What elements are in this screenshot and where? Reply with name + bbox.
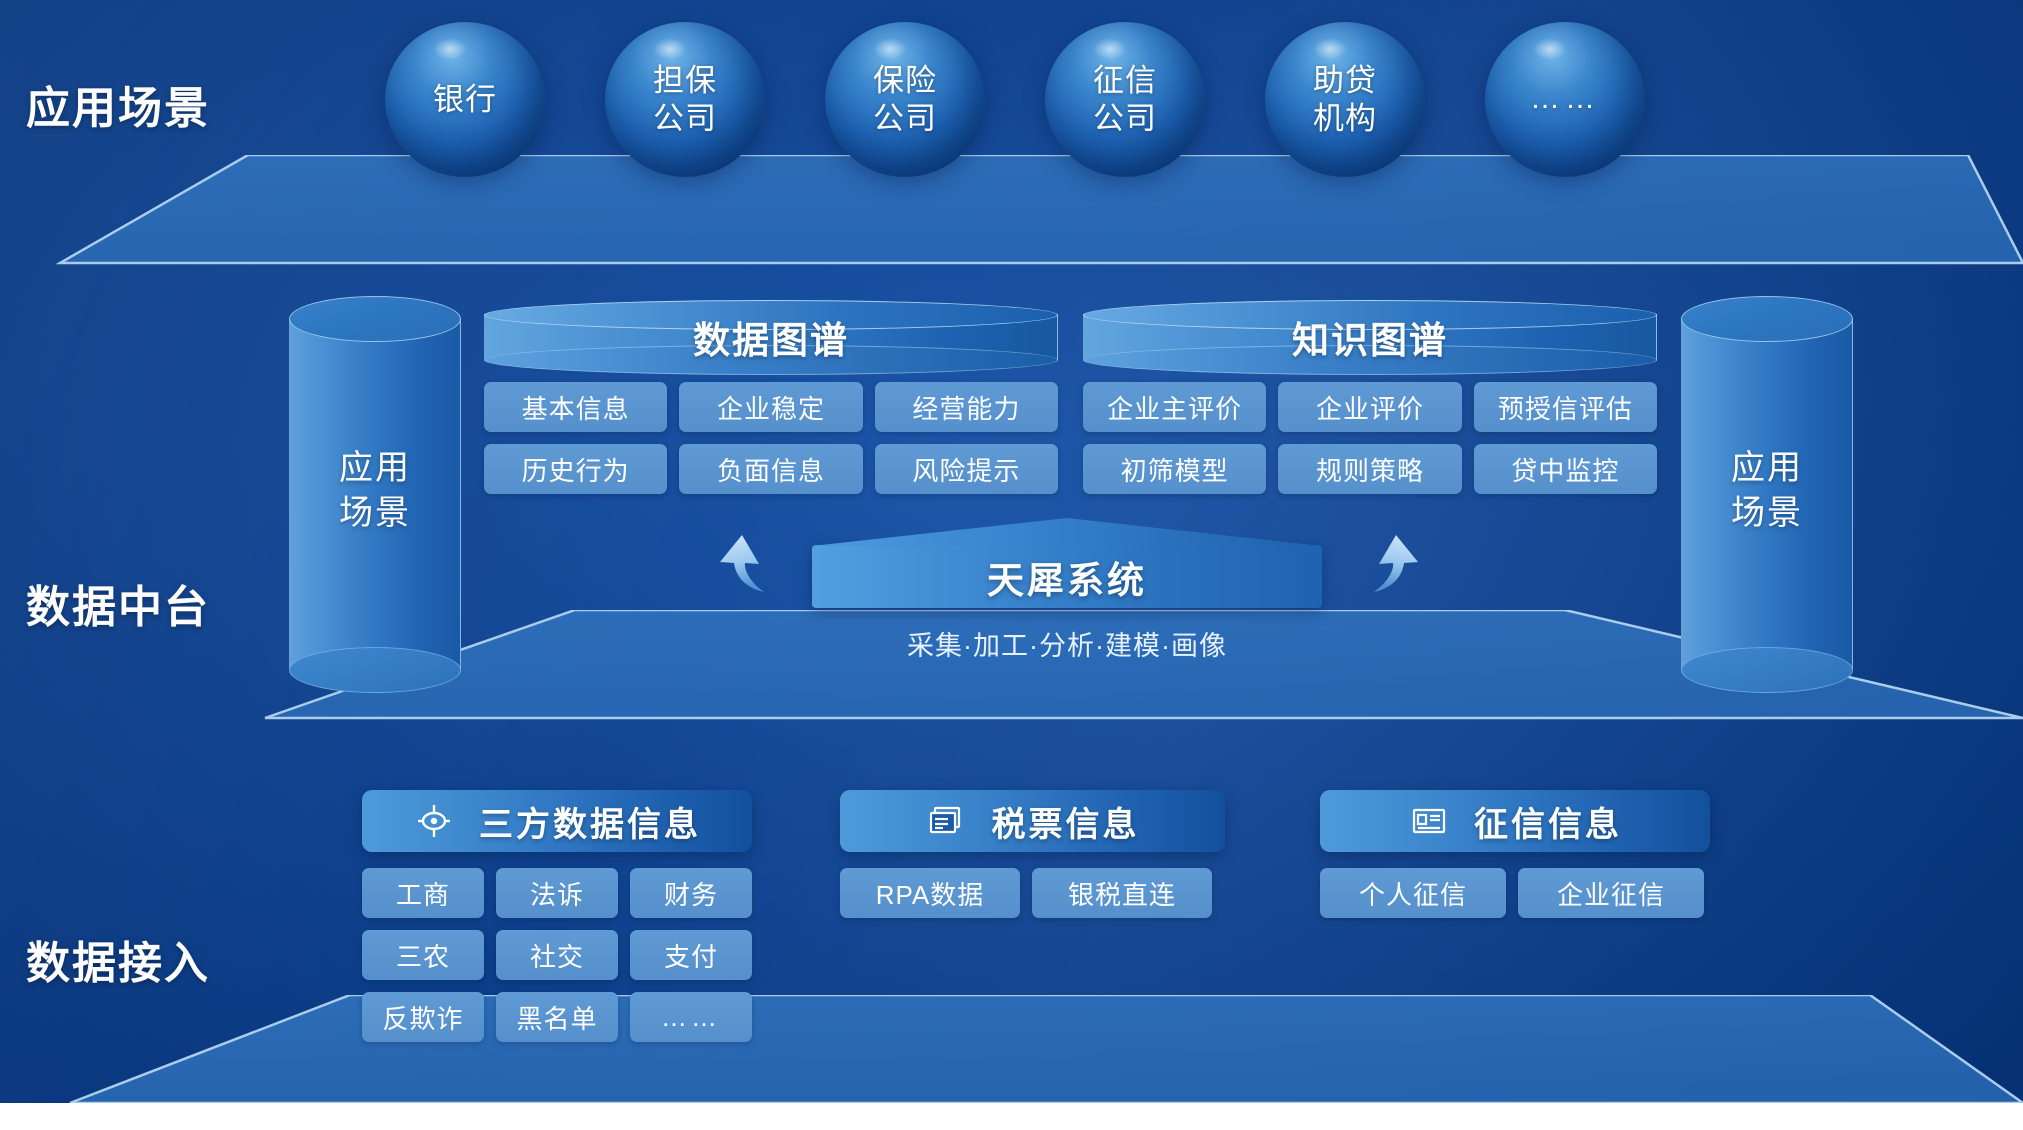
ingest-card-title: 三方数据信息 (479, 797, 701, 846)
tag-pre-credit-assessment[interactable]: 预授信评估 (1474, 382, 1657, 432)
tag-more[interactable]: …… (630, 992, 752, 1042)
architecture-diagram: 应用场景 数据中台 数据接入 银行 担保 公司 保险 公司 征信 公司 助贷 机… (0, 0, 2023, 1130)
invoice-icon (926, 800, 968, 842)
tag-historical-behavior[interactable]: 历史行为 (484, 444, 667, 494)
scenario-label: 银行 (433, 81, 497, 119)
system-banner[interactable]: 天犀系统 (812, 545, 1322, 608)
scenario-sphere-guarantee[interactable]: 担保 公司 (605, 22, 765, 177)
id-card-icon (1408, 800, 1450, 842)
third-party-tag-grid: 工商 法诉 财务 三农 社交 支付 反欺诈 黑名单 …… (362, 868, 752, 1042)
tag-negative-info[interactable]: 负面信息 (679, 444, 862, 494)
tag-personal-credit[interactable]: 个人征信 (1320, 868, 1506, 918)
disc-title: 知识图谱 (1083, 314, 1657, 360)
system-block: 天犀系统 采集·加工·分析·建模·画像 (812, 545, 1322, 663)
curved-arrow-left-icon (712, 530, 804, 615)
tag-anti-fraud[interactable]: 反欺诈 (362, 992, 484, 1042)
scenario-sphere-insurance[interactable]: 保险 公司 (825, 22, 985, 177)
system-subtitle: 采集·加工·分析·建模·画像 (812, 624, 1322, 663)
section-label-ingest: 数据接入 (26, 927, 210, 991)
scenario-sphere-bank[interactable]: 银行 (385, 22, 545, 177)
tax-invoice-tag-grid: RPA数据 银税直连 (840, 868, 1225, 918)
cylinder-bottom (1681, 647, 1853, 693)
ingest-card-tax-invoice[interactable]: 税票信息 (840, 790, 1225, 852)
scenario-sphere-loan-facilitation[interactable]: 助贷 机构 (1265, 22, 1425, 177)
data-graph-tag-grid: 基本信息 企业稳定 经营能力 历史行为 负面信息 风险提示 (484, 382, 1058, 494)
panel-data-graph: 数据图谱 基本信息 企业稳定 经营能力 历史行为 负面信息 风险提示 (484, 300, 1058, 494)
cylinder-label: 应用 场景 (1681, 446, 1853, 536)
knowledge-graph-tag-grid: 企业主评价 企业评价 预授信评估 初筛模型 规则策略 贷中监控 (1083, 382, 1657, 494)
ingest-card-title: 税票信息 (992, 797, 1140, 846)
section-label-application: 应用场景 (26, 72, 210, 136)
system-title: 天犀系统 (987, 550, 1147, 604)
tag-payment[interactable]: 支付 (630, 930, 752, 980)
disc-knowledge-graph[interactable]: 知识图谱 (1083, 300, 1657, 370)
target-crosshair-icon (413, 800, 455, 842)
tag-agriculture[interactable]: 三农 (362, 930, 484, 980)
ingest-card-credit-report[interactable]: 征信信息 (1320, 790, 1710, 852)
tag-enterprise-stability[interactable]: 企业稳定 (679, 382, 862, 432)
ingest-group-credit-report: 征信信息 个人征信 企业征信 (1320, 790, 1710, 918)
tag-rule-strategy[interactable]: 规则策略 (1278, 444, 1461, 494)
curved-arrow-right-icon (1334, 530, 1426, 615)
tag-bank-tax-direct[interactable]: 银税直连 (1032, 868, 1212, 918)
scenario-label: 保险 公司 (873, 62, 937, 138)
section-label-middle: 数据中台 (26, 571, 210, 635)
disc-data-graph[interactable]: 数据图谱 (484, 300, 1058, 370)
tag-screening-model[interactable]: 初筛模型 (1083, 444, 1266, 494)
disc-title: 数据图谱 (484, 314, 1058, 360)
tag-in-loan-monitoring[interactable]: 贷中监控 (1474, 444, 1657, 494)
panel-knowledge-graph: 知识图谱 企业主评价 企业评价 预授信评估 初筛模型 规则策略 贷中监控 (1083, 300, 1657, 494)
cylinder-right-application-scenario: 应用 场景 (1681, 296, 1853, 691)
tag-blacklist[interactable]: 黑名单 (496, 992, 618, 1042)
tag-operating-capability[interactable]: 经营能力 (875, 382, 1058, 432)
bottom-white-strip (0, 1103, 2023, 1130)
cylinder-top (1681, 296, 1853, 342)
cylinder-bottom (289, 647, 461, 693)
scenario-label: 助贷 机构 (1313, 62, 1377, 138)
scenario-label: 征信 公司 (1093, 62, 1157, 138)
tag-business-registration[interactable]: 工商 (362, 868, 484, 918)
ingest-card-third-party[interactable]: 三方数据信息 (362, 790, 752, 852)
platform-ingest (0, 995, 2023, 1110)
ingest-group-tax-invoice: 税票信息 RPA数据 银税直连 (840, 790, 1225, 918)
scenario-sphere-more[interactable]: …… (1485, 22, 1645, 177)
cylinder-left-application-scenario: 应用 场景 (289, 296, 461, 691)
tag-finance[interactable]: 财务 (630, 868, 752, 918)
cylinder-label: 应用 场景 (289, 446, 461, 536)
application-scenario-list: 银行 担保 公司 保险 公司 征信 公司 助贷 机构 …… (385, 22, 1645, 182)
tag-basic-info[interactable]: 基本信息 (484, 382, 667, 432)
ingest-card-title: 征信信息 (1474, 797, 1622, 846)
tag-rpa-data[interactable]: RPA数据 (840, 868, 1020, 918)
tag-litigation[interactable]: 法诉 (496, 868, 618, 918)
tag-owner-evaluation[interactable]: 企业主评价 (1083, 382, 1266, 432)
scenario-label: …… (1530, 81, 1600, 118)
scenario-sphere-credit-bureau[interactable]: 征信 公司 (1045, 22, 1205, 177)
credit-report-tag-grid: 个人征信 企业征信 (1320, 868, 1710, 918)
tag-risk-alert[interactable]: 风险提示 (875, 444, 1058, 494)
tag-enterprise-credit[interactable]: 企业征信 (1518, 868, 1704, 918)
scenario-label: 担保 公司 (653, 62, 717, 138)
ingest-group-third-party: 三方数据信息 工商 法诉 财务 三农 社交 支付 反欺诈 黑名单 …… (362, 790, 752, 1042)
tag-social[interactable]: 社交 (496, 930, 618, 980)
tag-enterprise-evaluation[interactable]: 企业评价 (1278, 382, 1461, 432)
cylinder-top (289, 296, 461, 342)
